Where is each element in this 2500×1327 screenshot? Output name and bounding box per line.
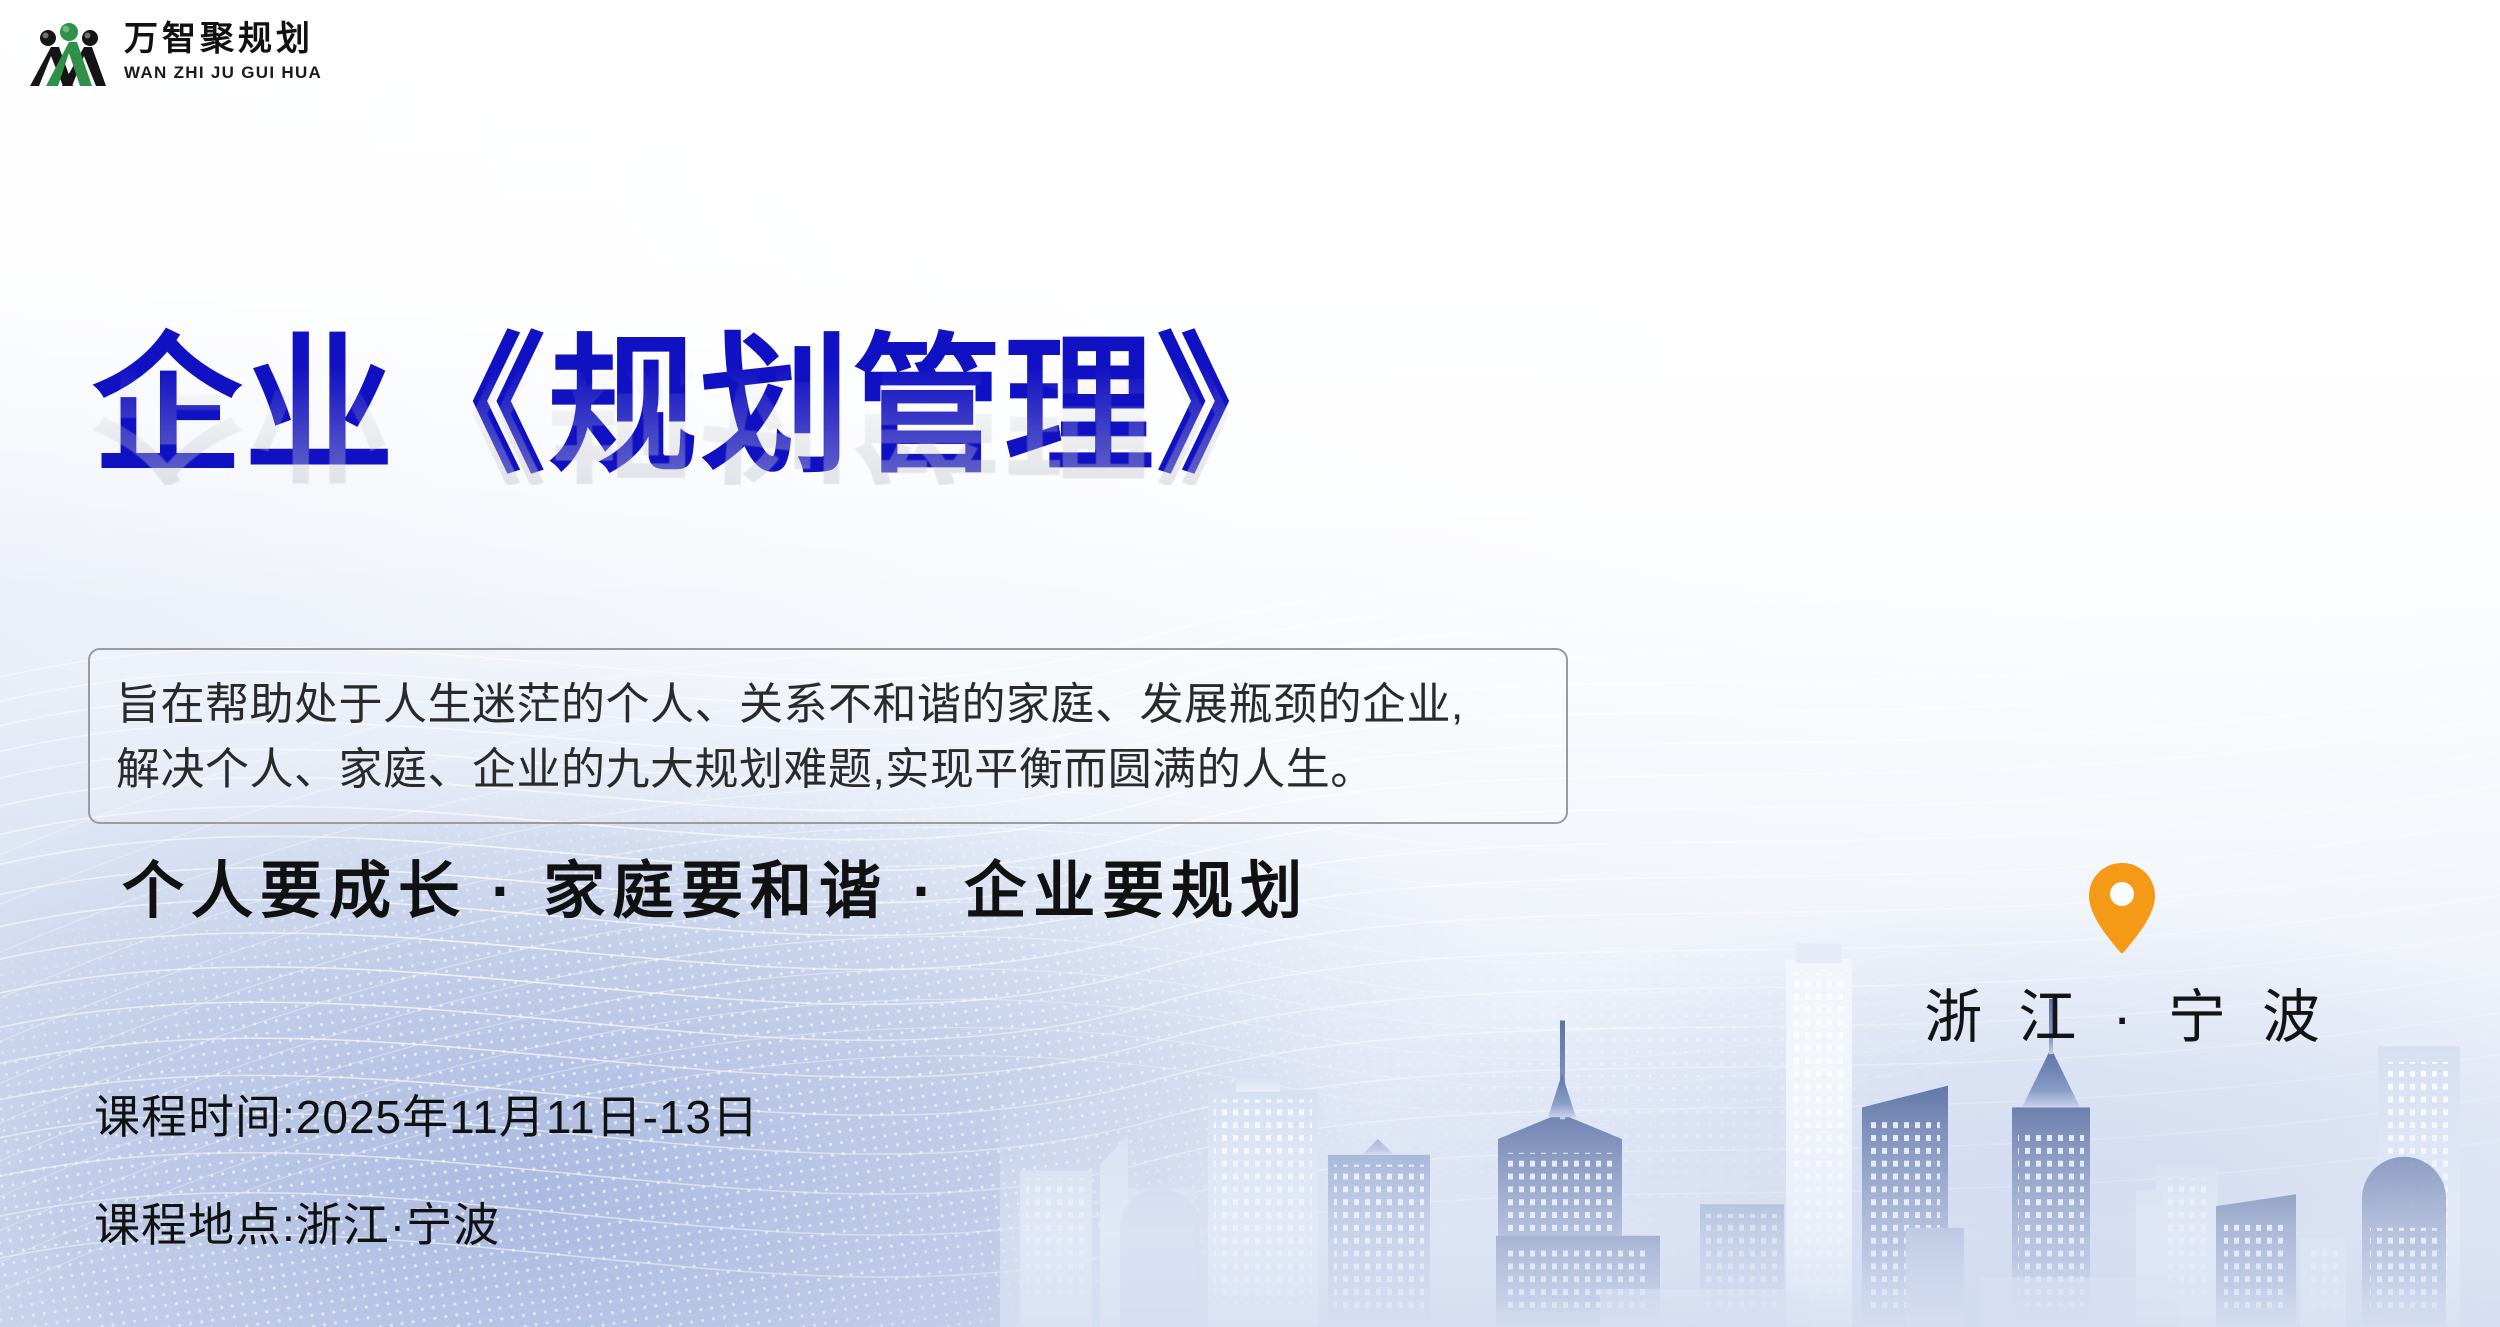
description-line-1: 旨在帮助处于人生迷茫的个人、关系不和谐的家庭、发展瓶颈的企业, [116,672,1540,737]
brand-logo: 万智聚规划 WAN ZHI JU GUI HUA [30,16,322,88]
three-people-logo-icon [30,16,108,88]
page-title-reflection: 企业《规划管理》 [92,332,1592,485]
description-box: 旨在帮助处于人生迷茫的个人、关系不和谐的家庭、发展瓶颈的企业, 解决个人、家庭、… [88,648,1568,824]
location-label: 浙 江 · 宁 波 [1914,970,2330,1054]
brand-name-en: WAN ZHI JU GUI HUA [124,63,322,83]
brand-name-cn: 万智聚规划 [124,21,322,58]
description-line-2: 解决个人、家庭、企业的九大规划难题,实现平衡而圆满的人生。 [116,737,1540,802]
course-info-block: 课程时间:2025年11月11日-13日 课程地点:浙江·宁波 [94,1081,759,1255]
map-pin-icon [2084,860,2160,956]
poster-canvas: 万智聚规划 WAN ZHI JU GUI HUA 企业《规划管理》 企业《规划管… [0,0,2500,1327]
headline-block: 企业《规划管理》 企业《规划管理》 [92,330,1592,638]
location-badge: 浙 江 · 宁 波 [1914,860,2330,1054]
course-place: 课程地点:浙江·宁波 [94,1189,759,1255]
course-time: 课程时间:2025年11月11日-13日 [94,1081,759,1147]
slogan-text: 个人要成长 · 家庭要和谐 · 企业要规划 [122,840,1309,930]
